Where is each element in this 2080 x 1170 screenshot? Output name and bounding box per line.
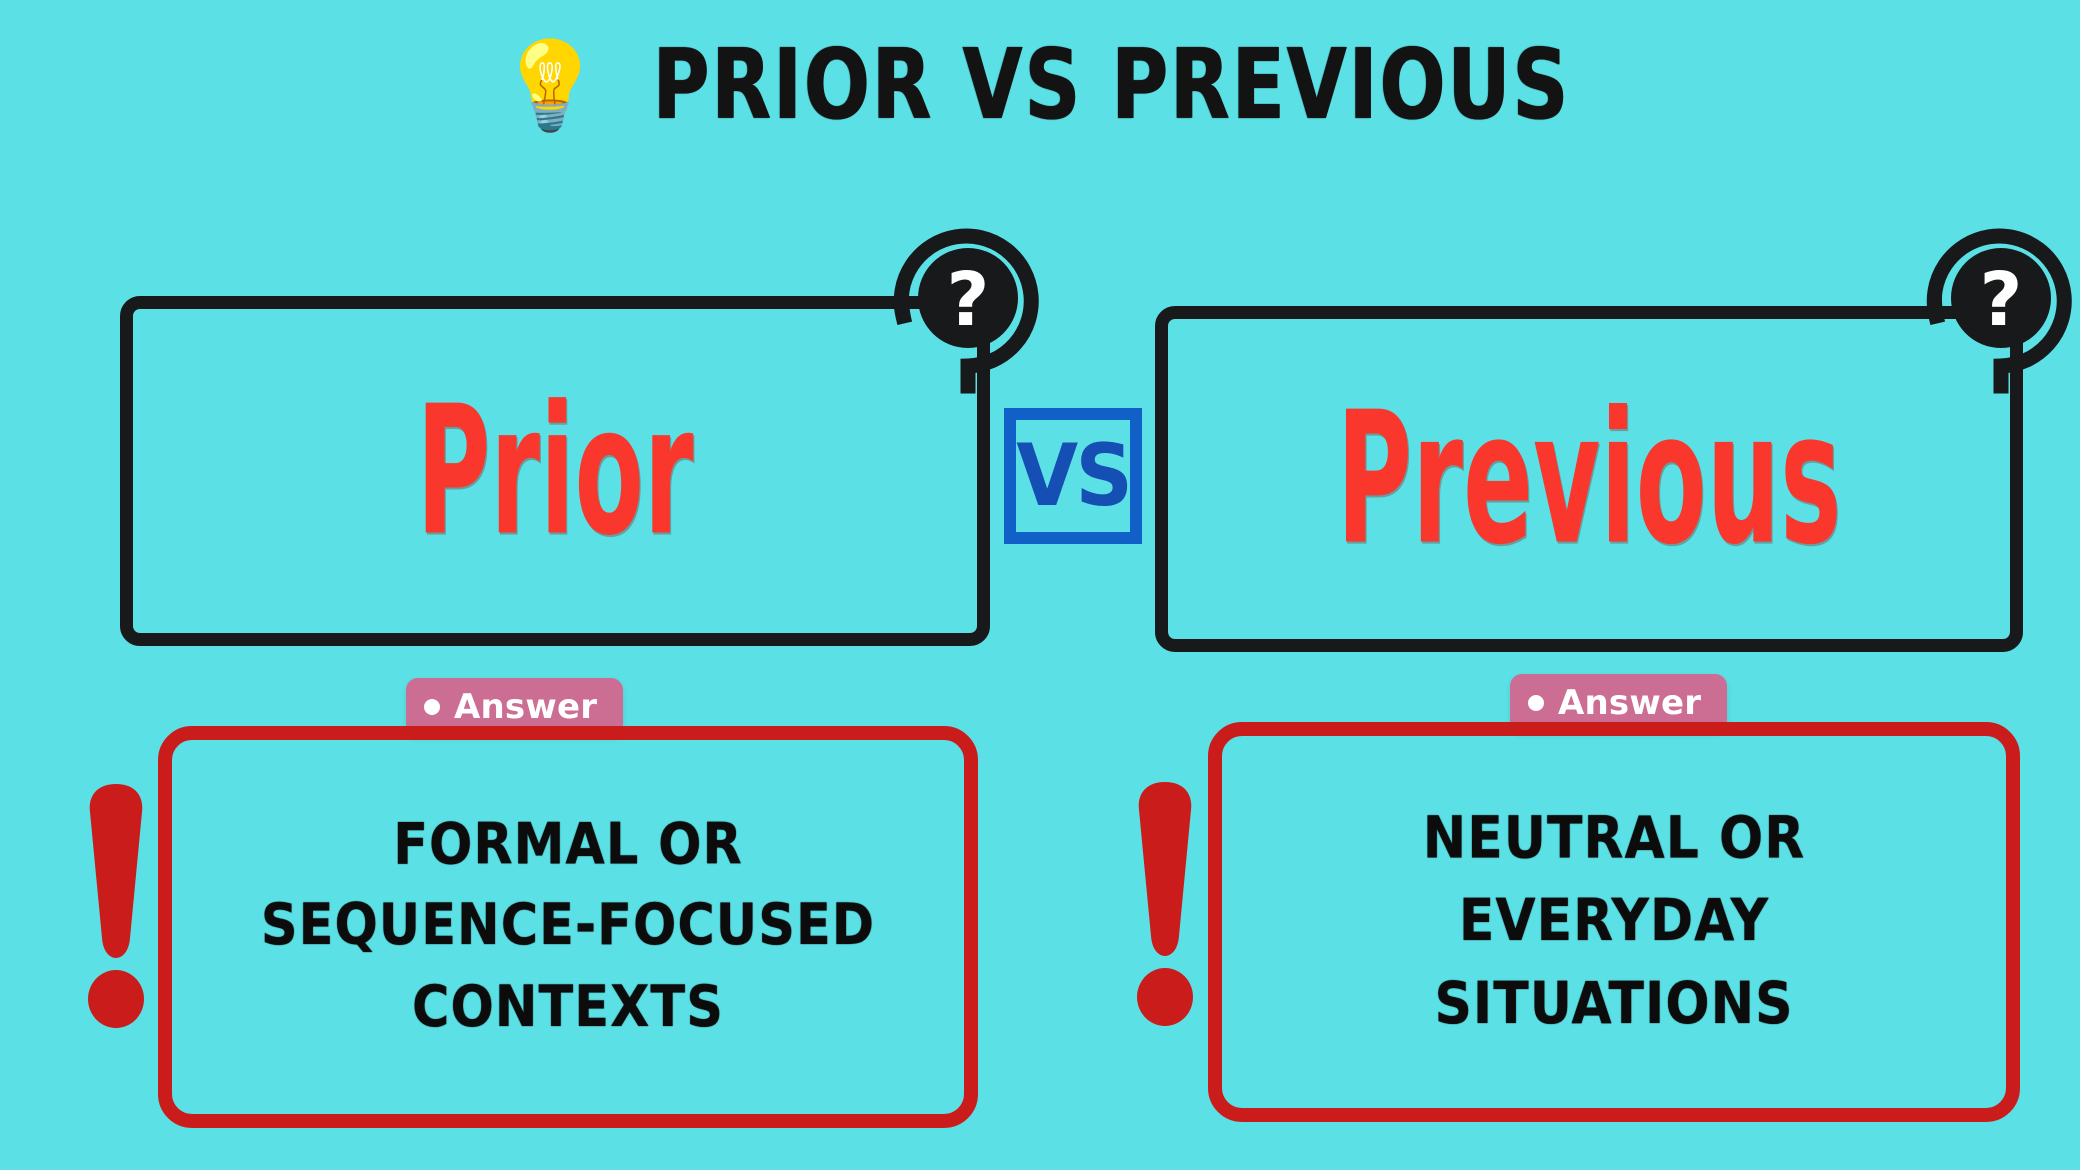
answer-text-left: Formal or sequence-focused contexts — [227, 805, 908, 1048]
answer-text-right: Neutral or everyday situations — [1277, 798, 1951, 1046]
bullet-dot-icon — [1528, 695, 1544, 711]
answer-pill-label-right: Answer — [1558, 686, 1701, 720]
vs-badge: VS — [1004, 408, 1142, 544]
vs-label: VS — [1016, 433, 1130, 519]
answer-card-right[interactable]: Neutral or everyday situations — [1208, 722, 2020, 1122]
vs-badge-inner-frame: VS — [1011, 415, 1135, 537]
term-label-prior: Prior — [416, 382, 693, 560]
infographic-canvas: 💡 Prior vs Previous Prior Previous ? ? V… — [0, 0, 2080, 1170]
page-title: Prior vs Previous — [652, 27, 1570, 140]
question-mark-icon-right[interactable]: ? — [1928, 228, 2074, 374]
lightbulb-icon: 💡 — [496, 43, 603, 129]
term-label-previous: Previous — [1337, 388, 1842, 570]
exclamation-icon-left — [84, 780, 148, 1030]
question-mark-icon-left[interactable]: ? — [895, 228, 1041, 374]
term-card-right[interactable]: Previous — [1155, 306, 2023, 652]
page-header: 💡 Prior vs Previous — [0, 26, 2080, 142]
answer-card-left[interactable]: Formal or sequence-focused contexts — [158, 726, 978, 1128]
svg-text:?: ? — [1980, 257, 2023, 343]
bullet-dot-icon — [424, 699, 440, 715]
exclamation-icon-right — [1133, 778, 1197, 1028]
svg-text:?: ? — [947, 257, 990, 343]
answer-pill-label-left: Answer — [454, 690, 597, 724]
term-card-left[interactable]: Prior — [120, 296, 990, 646]
